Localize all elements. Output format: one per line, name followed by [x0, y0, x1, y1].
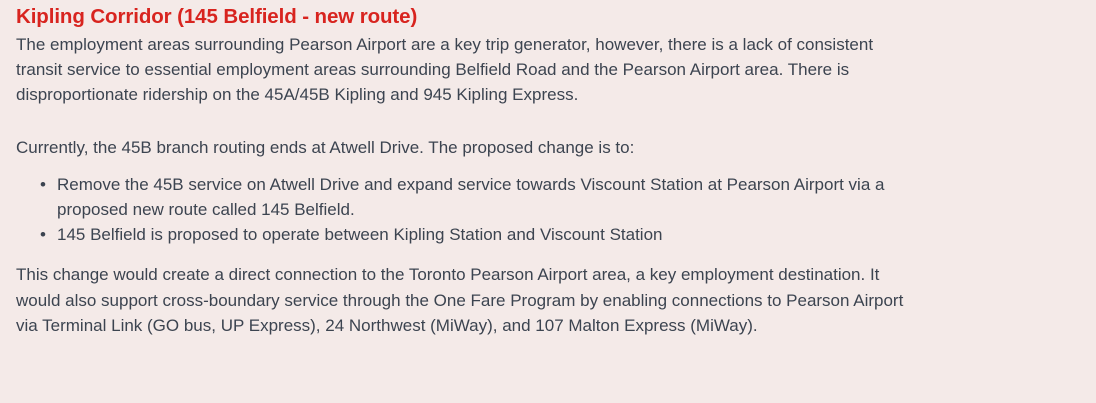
bullet-icon: •	[40, 172, 46, 197]
list-item-label: 145 Belfield is proposed to operate betw…	[57, 225, 663, 244]
list-item: • Remove the 45B service on Atwell Drive…	[16, 172, 916, 222]
proposed-changes-list: • Remove the 45B service on Atwell Drive…	[16, 160, 916, 248]
page-title: Kipling Corridor (145 Belfield - new rou…	[16, 0, 916, 30]
section-content: Kipling Corridor (145 Belfield - new rou…	[16, 0, 916, 338]
paragraph-spacer	[16, 108, 916, 133]
outcome-paragraph: This change would create a direct connec…	[16, 262, 912, 338]
list-spacer	[16, 247, 916, 262]
list-item-label: Remove the 45B service on Atwell Drive a…	[57, 175, 884, 219]
current-state-paragraph: Currently, the 45B branch routing ends a…	[16, 133, 916, 160]
kipling-corridor-section: Kipling Corridor (145 Belfield - new rou…	[0, 0, 1096, 403]
bullet-icon: •	[40, 222, 46, 247]
intro-paragraph: The employment areas surrounding Pearson…	[16, 30, 913, 108]
list-item: • 145 Belfield is proposed to operate be…	[16, 222, 916, 247]
